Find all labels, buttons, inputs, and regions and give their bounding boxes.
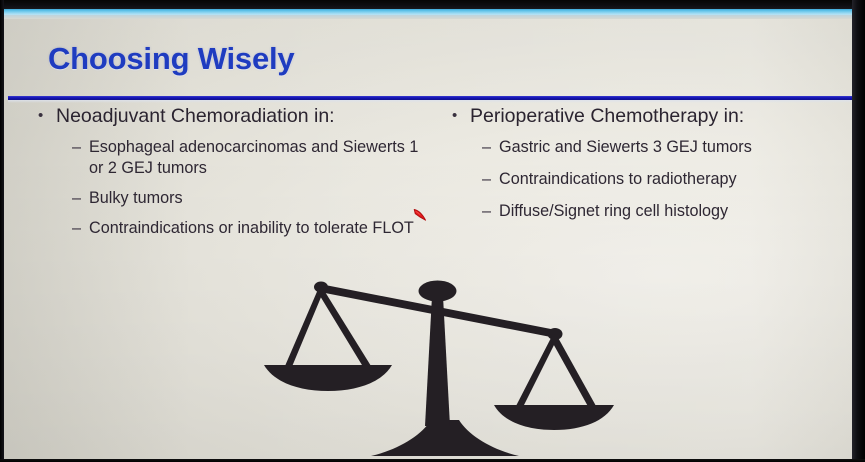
title-divider-highlight xyxy=(8,100,852,103)
sub-bullet-item: – Gastric and Siewerts 3 GEJ tumors xyxy=(452,137,842,158)
projected-slide-photo: Choosing Wisely • Neoadjuvant Chemoradia… xyxy=(0,0,865,462)
content-column-left: • Neoadjuvant Chemoradiation in: – Esoph… xyxy=(4,105,434,248)
sub-bullet-text: Esophageal adenocarcinomas and Siewerts … xyxy=(89,137,426,179)
sub-bullet-item: – Diffuse/Signet ring cell histology xyxy=(452,201,842,222)
sub-bullet-item: – Contraindications to radiotherapy xyxy=(452,169,842,190)
dash-marker-icon: – xyxy=(482,201,499,222)
slide-canvas: Choosing Wisely • Neoadjuvant Chemoradia… xyxy=(4,17,852,460)
dash-marker-icon: – xyxy=(482,137,499,158)
bullet-heading-text-right: Perioperative Chemotherapy in: xyxy=(470,105,842,128)
photo-bezel-right xyxy=(852,0,865,462)
sub-bullet-item: – Esophageal adenocarcinomas and Siewert… xyxy=(38,137,426,179)
sub-bullet-item: – Contraindications or inability to tole… xyxy=(38,218,426,239)
photo-bezel-top xyxy=(0,0,865,9)
bullet-heading-right: • Perioperative Chemotherapy in: xyxy=(452,105,842,128)
sub-bullet-list-right: – Gastric and Siewerts 3 GEJ tumors – Co… xyxy=(452,137,842,222)
sub-bullet-text: Gastric and Siewerts 3 GEJ tumors xyxy=(499,137,842,158)
dash-marker-icon: – xyxy=(72,188,89,209)
bullet-dot-icon: • xyxy=(452,105,470,126)
dash-marker-icon: – xyxy=(72,137,89,158)
dash-marker-icon: – xyxy=(72,218,89,239)
sub-bullet-text: Diffuse/Signet ring cell histology xyxy=(499,201,842,222)
dash-marker-icon: – xyxy=(482,169,499,190)
sub-bullet-item: – Bulky tumors xyxy=(38,188,426,209)
content-column-right: • Perioperative Chemotherapy in: – Gastr… xyxy=(434,105,852,248)
slide-body-columns: • Neoadjuvant Chemoradiation in: – Esoph… xyxy=(4,105,852,248)
bullet-heading-text-left: Neoadjuvant Chemoradiation in: xyxy=(56,105,426,128)
slide-top-accent-shadow xyxy=(4,15,852,19)
sub-bullet-text: Contraindications or inability to tolera… xyxy=(89,218,426,239)
photo-bezel-left xyxy=(0,0,4,462)
sub-bullet-list-left: – Esophageal adenocarcinomas and Siewert… xyxy=(38,137,426,239)
bullet-dot-icon: • xyxy=(38,105,56,126)
sub-bullet-text: Bulky tumors xyxy=(89,188,426,209)
sub-bullet-text: Contraindications to radiotherapy xyxy=(499,169,842,190)
slide-title: Choosing Wisely xyxy=(48,41,294,77)
bullet-heading-left: • Neoadjuvant Chemoradiation in: xyxy=(38,105,426,128)
balance-scale-icon xyxy=(254,260,614,460)
